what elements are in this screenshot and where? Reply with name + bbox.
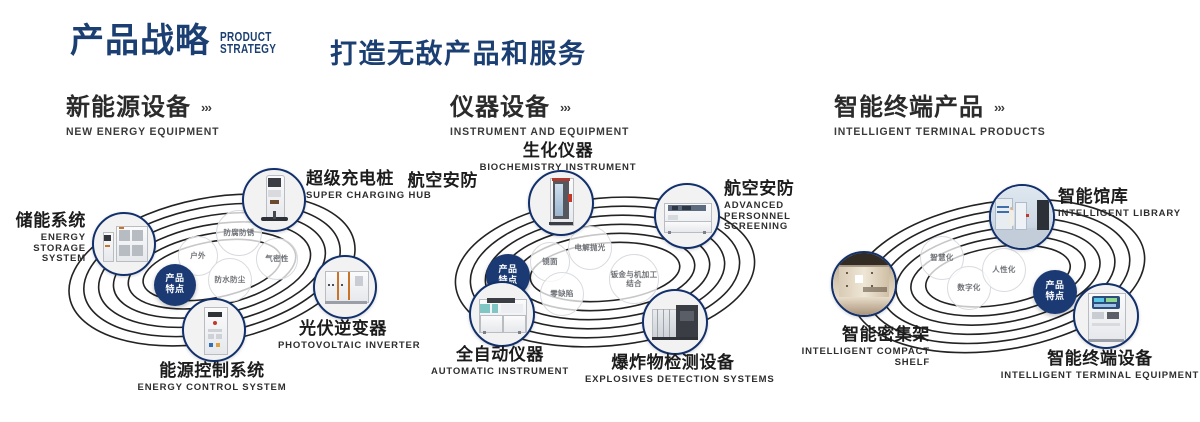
label-intelligent-terminal-equipment: 智能终端设备 INTELLIGENT TERMINAL EQUIPMENT xyxy=(1000,350,1200,382)
node-label-en: BIOCHEMISTRY INSTRUMENT xyxy=(478,163,638,174)
section-title-en: INTELLIGENT TERMINAL PRODUCTS xyxy=(834,126,1046,138)
node-label-en: ENERGY STORAGE SYSTEM xyxy=(0,233,86,265)
label-intelligent-compact-shelf: 智能密集架 INTELLIGENT COMPACT SHELF xyxy=(770,326,930,368)
label-energy-control-system: 能源控制系统 ENERGY CONTROL SYSTEM xyxy=(122,362,302,394)
auto-analyzer-icon xyxy=(471,283,533,345)
core-bubble-product-features: 产品 特点 xyxy=(1033,270,1077,314)
node-energy-storage-system[interactable] xyxy=(92,212,156,276)
label-energy-storage-system: 储能系统 ENERGY STORAGE SYSTEM xyxy=(0,212,86,265)
chevron-right-icon: ››› xyxy=(201,100,211,115)
core-bubble-line1: 产品 xyxy=(165,274,184,285)
core-bubble-line1: 产品 xyxy=(498,265,517,276)
inverter-cabinet-icon xyxy=(315,257,375,317)
feature-bubble: 零缺陷 xyxy=(540,272,584,316)
charging-pile-icon xyxy=(244,170,304,230)
page-title-en-line2: STRATEGY xyxy=(220,43,276,55)
section-title-cn: 新能源设备 xyxy=(66,95,191,119)
cluster-new-energy: 户外 防腐防锈 防水防尘 气密性 产品 特点 储能系统 ENERGY ST xyxy=(0,150,420,400)
product-strategy-infographic: 产品战略 PRODUCT STRATEGY 打造无敌产品和服务 新能源设备 ››… xyxy=(0,0,1200,422)
node-advanced-personnel-screening[interactable] xyxy=(654,183,720,249)
node-label-cn: 智能终端设备 xyxy=(1000,350,1200,369)
cluster-intelligent-terminal: 智慧化 数字化 人性化 产品 特点 智能馆库 INTELLIGE xyxy=(790,150,1200,400)
node-intelligent-library[interactable] xyxy=(989,184,1055,250)
node-label-cn: 能源控制系统 xyxy=(122,362,302,381)
label-explosives-detection-systems: 爆炸物检测设备 EXPLOSIVES DETECTION SYSTEMS xyxy=(585,354,761,386)
section-title-cn: 仪器设备 xyxy=(450,95,550,119)
page-title-cn: 产品战略 xyxy=(70,24,210,58)
section-title-cn: 智能终端产品 xyxy=(834,95,984,119)
node-label-cn: 光伏逆变器 xyxy=(278,320,408,339)
node-biochemistry-instrument[interactable] xyxy=(528,170,594,236)
storage-cabinet-icon xyxy=(94,214,154,274)
library-room-icon xyxy=(991,186,1053,248)
node-label-cn: 储能系统 xyxy=(0,212,86,231)
node-label-cn: 全自动仪器 xyxy=(430,346,570,365)
node-intelligent-terminal-equipment[interactable] xyxy=(1073,283,1139,349)
section-heading-new-energy: 新能源设备 ››› NEW ENERGY EQUIPMENT xyxy=(66,95,227,138)
node-explosives-detection-systems[interactable] xyxy=(642,289,708,355)
screening-machine-icon xyxy=(656,185,718,247)
explosives-scanner-icon xyxy=(644,291,706,353)
core-bubble-line1: 产品 xyxy=(1045,281,1064,292)
node-super-charging-hub[interactable] xyxy=(242,168,306,232)
page-title-en: PRODUCT STRATEGY xyxy=(220,31,276,55)
kiosk-terminal-icon xyxy=(1075,285,1137,347)
aux-label-cn: 航空安防 xyxy=(400,172,478,191)
node-label-en: ENERGY CONTROL SYSTEM xyxy=(122,383,302,394)
security-gate-icon xyxy=(530,172,592,234)
node-label-cn: 智能密集架 xyxy=(770,326,930,345)
section-title-en: INSTRUMENT AND EQUIPMENT xyxy=(450,126,629,138)
chevron-right-icon: ››› xyxy=(994,100,1004,115)
label-photovoltaic-inverter: 光伏逆变器 PHOTOVOLTAIC INVERTER xyxy=(278,320,408,352)
feature-bubble: 防水防尘 xyxy=(208,258,252,302)
section-title-en: NEW ENERGY EQUIPMENT xyxy=(66,126,219,138)
node-intelligent-compact-shelf[interactable] xyxy=(831,251,897,317)
label-aviation-security-aux: 航空安防 xyxy=(400,172,478,191)
label-intelligent-library: 智能馆库 INTELLIGENT LIBRARY xyxy=(1058,188,1181,220)
core-bubble-line2: 特点 xyxy=(165,285,184,296)
node-label-cn: 爆炸物检测设备 xyxy=(585,354,761,373)
page-title: 产品战略 PRODUCT STRATEGY xyxy=(70,24,290,58)
node-label-en: INTELLIGENT TERMINAL EQUIPMENT xyxy=(1000,371,1200,382)
section-heading-instrument: 仪器设备 ››› INSTRUMENT AND EQUIPMENT xyxy=(450,95,639,138)
node-label-en: EXPLOSIVES DETECTION SYSTEMS xyxy=(585,375,761,386)
node-automatic-instrument[interactable] xyxy=(469,281,535,347)
label-automatic-instrument: 全自动仪器 AUTOMATIC INSTRUMENT xyxy=(430,346,570,378)
label-biochemistry-instrument: 生化仪器 BIOCHEMISTRY INSTRUMENT xyxy=(478,142,638,174)
chevron-right-icon: ››› xyxy=(560,100,570,115)
compact-shelf-icon xyxy=(833,253,895,315)
page-subtitle: 打造无敌产品和服务 xyxy=(330,32,587,71)
node-label-en: AUTOMATIC INSTRUMENT xyxy=(430,367,570,378)
feature-bubble: 人性化 xyxy=(982,248,1026,292)
node-label-cn: 生化仪器 xyxy=(478,142,638,161)
node-label-cn: 智能馆库 xyxy=(1058,188,1181,207)
node-label-en: INTELLIGENT LIBRARY xyxy=(1058,209,1181,220)
core-bubble-line2: 特点 xyxy=(1045,292,1064,303)
node-label-en: PHOTOVOLTAIC INVERTER xyxy=(278,341,408,352)
node-energy-control-system[interactable] xyxy=(182,298,246,362)
section-heading-intelligent-terminal: 智能终端产品 ››› INTELLIGENT TERMINAL PRODUCTS xyxy=(834,95,1057,138)
node-label-en: INTELLIGENT COMPACT SHELF xyxy=(770,347,930,368)
cluster-instrument: 镜面 电解抛光 零缺陷 钣金与机加工结合 产品 特点 航空安防 生化仪器 BIO… xyxy=(390,150,820,400)
node-photovoltaic-inverter[interactable] xyxy=(313,255,377,319)
feature-bubble: 气密性 xyxy=(256,238,298,280)
control-cabinet-icon xyxy=(184,300,244,360)
